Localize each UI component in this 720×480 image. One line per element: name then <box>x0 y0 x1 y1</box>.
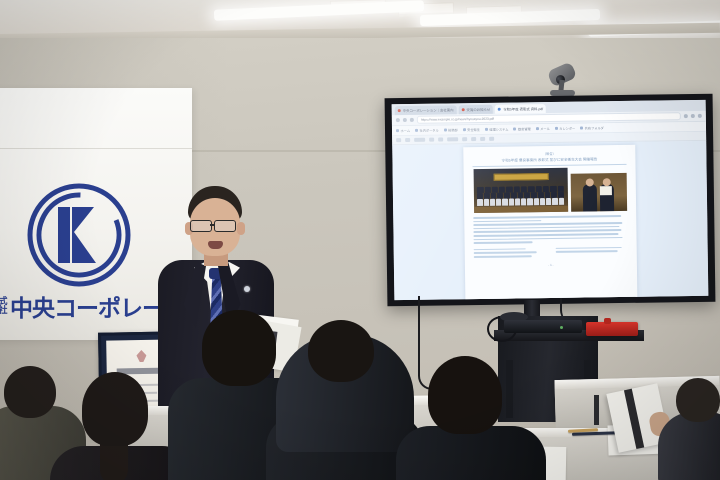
fit-page-icon[interactable] <box>462 137 467 141</box>
company-logo <box>20 182 140 290</box>
eyeglasses-lens-left <box>190 220 212 232</box>
star-icon[interactable] <box>684 114 688 118</box>
browser-tab[interactable]: 受賞のお知らせ <box>458 105 493 114</box>
bookmark-icon <box>485 128 488 131</box>
bookmark-icon <box>463 128 466 131</box>
forward-arrow-icon[interactable] <box>403 118 407 122</box>
browser-tab[interactable]: 中央コーポレーション｜会社案内 <box>395 105 457 115</box>
lapel-pin-icon <box>244 286 250 292</box>
notebook-spine <box>624 389 644 449</box>
bookmark-item[interactable]: 経理システム <box>485 127 509 132</box>
bookmark-item[interactable]: 勤怠管理 <box>513 126 530 131</box>
zoom-level-select[interactable] <box>447 137 458 141</box>
browser-tab-active[interactable]: 令和5年度 表彰式 資料.pdf <box>495 104 546 114</box>
attendee-jacket <box>658 412 720 480</box>
bookmark-item[interactable]: ホーム <box>396 128 410 133</box>
bookmark-icon <box>396 129 399 132</box>
attendee-head <box>202 310 276 386</box>
back-arrow-icon[interactable] <box>396 118 400 122</box>
banner-seam <box>0 148 192 149</box>
eyeglasses-bridge <box>210 224 214 226</box>
wall-mounted-display[interactable]: 中央コーポレーション｜会社案内 受賞のお知らせ 令和5年度 表彰式 資料.pdf… <box>385 94 716 307</box>
bookmark-item[interactable]: 総務部 <box>444 127 458 132</box>
document-rule <box>473 163 627 166</box>
print-icon[interactable] <box>480 137 485 141</box>
presenter-mouth <box>208 241 223 249</box>
attendee-head <box>82 372 148 446</box>
attendee-far-right <box>662 378 720 480</box>
browser-tab-label: 令和5年度 表彰式 資料.pdf <box>503 106 543 112</box>
av-receiver[interactable] <box>504 320 582 333</box>
page-next-icon[interactable] <box>405 138 410 142</box>
presentation-room-photo: 株式 会社 中央コーポレーシ <box>0 0 720 480</box>
bookmark-icon <box>555 127 558 130</box>
browser-tab-label: 中央コーポレーション｜会社案内 <box>403 107 454 113</box>
desk-leg <box>594 395 599 425</box>
bookmark-icon <box>415 129 418 132</box>
bookmark-icon <box>536 127 539 130</box>
certificate-seal-icon <box>136 350 146 362</box>
browser-tab-label: 受賞のお知らせ <box>466 107 490 112</box>
zoom-in-icon[interactable] <box>438 137 443 141</box>
profile-avatar-icon[interactable] <box>691 114 695 118</box>
display-screen[interactable]: 中央コーポレーション｜会社案内 受賞のお知らせ 令和5年度 表彰式 資料.pdf… <box>392 100 709 300</box>
zoom-out-icon[interactable] <box>429 138 434 142</box>
download-icon[interactable] <box>489 137 494 141</box>
attendee-head <box>428 356 502 434</box>
document-page: （報告） 令和5年度 優良事業所 表彰式 並びに安全衛生大会 開催報告 <box>463 145 637 300</box>
reload-icon[interactable] <box>410 118 414 122</box>
document-page-number: - 1 - <box>474 261 628 267</box>
company-legal-prefix: 株式 会社 <box>0 297 7 316</box>
webcam-on-display <box>545 66 581 98</box>
group-ceremony-photo <box>473 168 568 213</box>
award-certificate-held <box>599 186 611 195</box>
favicon-icon <box>462 108 465 111</box>
ceremony-stage-banner <box>494 173 549 181</box>
attendee-jacket <box>396 426 546 480</box>
menu-kebab-icon[interactable] <box>698 114 702 118</box>
attendee-ponytail <box>56 372 184 480</box>
attendee-head <box>308 320 374 382</box>
document-photos <box>473 167 628 213</box>
favicon-icon <box>498 108 501 111</box>
document-footer-block <box>474 247 628 260</box>
attendee-head <box>676 378 720 422</box>
presenter-ear-right <box>237 222 245 235</box>
red-case-handle <box>604 318 611 324</box>
document-footer-left <box>474 248 546 260</box>
bookmark-item[interactable]: カレンダー <box>555 126 576 131</box>
bookmark-icon <box>444 128 447 131</box>
award-presenter-head <box>586 178 594 186</box>
attendee-head <box>4 366 56 418</box>
document-body-text <box>473 215 627 244</box>
power-led-icon <box>560 326 563 329</box>
eyeglasses-lens-right <box>214 220 236 232</box>
bookmark-item[interactable]: 社内ポータル <box>415 128 439 133</box>
document-title: 令和5年度 優良事業所 表彰式 並びに安全衛生大会 開催報告 <box>472 156 626 163</box>
bookmark-icon <box>513 127 516 130</box>
attendee-center-right <box>406 356 530 480</box>
bookmark-item[interactable]: 安全衛生 <box>463 127 480 132</box>
bookmark-item[interactable]: 共有フォルダ <box>580 125 604 130</box>
award-presenter-figure <box>583 184 597 212</box>
bookmark-icon <box>580 127 583 130</box>
favicon-icon <box>398 109 401 112</box>
award-recipient-head <box>602 178 610 186</box>
document-footer-right <box>556 247 628 259</box>
page-prev-icon[interactable] <box>396 138 401 142</box>
bookmark-item[interactable]: メール <box>536 126 550 131</box>
award-presentation-photo <box>570 173 627 212</box>
red-equipment-case <box>586 322 638 336</box>
ceremony-stage-floor <box>474 206 568 213</box>
pdf-document-area[interactable]: （報告） 令和5年度 優良事業所 表彰式 並びに安全衛生大会 開催報告 <box>392 141 708 300</box>
rotate-icon[interactable] <box>471 137 476 141</box>
page-number-field[interactable] <box>414 138 425 142</box>
circled-k-logo <box>20 182 138 288</box>
